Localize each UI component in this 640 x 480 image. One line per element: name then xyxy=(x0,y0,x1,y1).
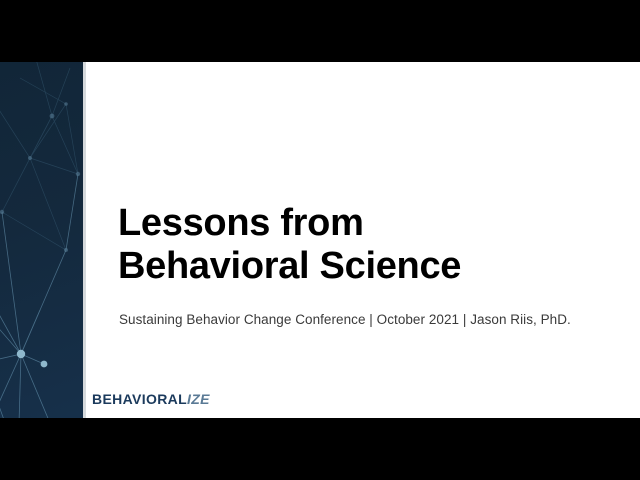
behavioralize-logo: BEHAVIORALIZE xyxy=(92,392,210,406)
screenshot-stage: Lessons from Behavioral Science Sustaini… xyxy=(0,0,640,480)
letterbox-bottom xyxy=(0,418,640,480)
logo-primary-text: BEHAVIORAL xyxy=(92,391,187,407)
sidebar-edge-divider xyxy=(83,62,86,418)
network-constellation-icon xyxy=(0,62,83,418)
logo-accent-text: IZE xyxy=(187,391,210,407)
slide-content: Lessons from Behavioral Science Sustaini… xyxy=(118,62,628,418)
slide-title: Lessons from Behavioral Science xyxy=(118,202,461,288)
slide-subtitle: Sustaining Behavior Change Conference | … xyxy=(119,311,571,329)
presentation-slide: Lessons from Behavioral Science Sustaini… xyxy=(0,62,640,418)
letterbox-top xyxy=(0,0,640,62)
sidebar-network-graphic xyxy=(0,62,83,418)
